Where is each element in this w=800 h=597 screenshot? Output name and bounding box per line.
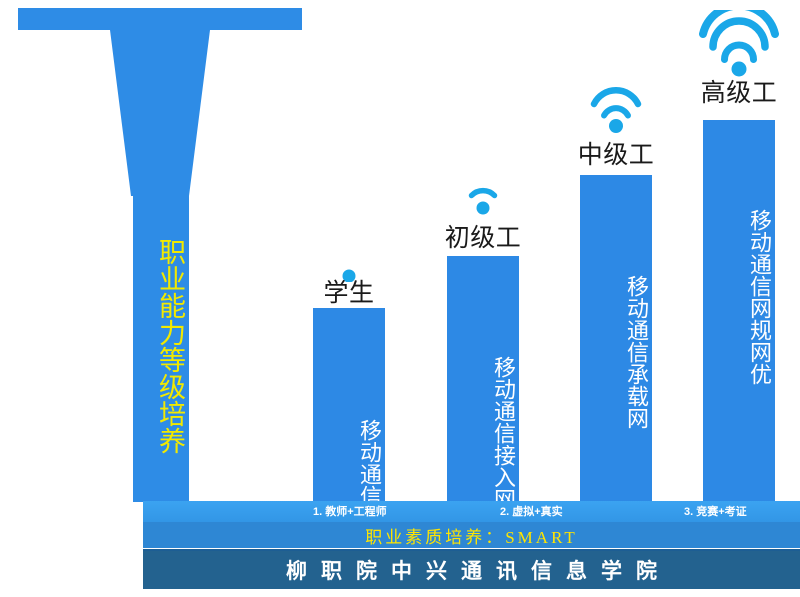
column-title-intermediate: 中级工 [556,135,676,171]
footer-band: 柳职院中兴通讯信息学院 [143,549,800,589]
note-2: 2. 虚拟+真实 [500,503,563,519]
footer-band-label: 柳职院中兴通讯信息学院 [272,555,671,585]
wifi-2-bars-icon [556,84,676,136]
bar-senior: 移动通信网规网优 [703,120,775,502]
bar-label-intermediate: 移动通信承载网 [580,187,652,517]
bar-student: 移动通信基础 [313,308,385,502]
bar-label-senior: 移动通信网规网优 [703,132,775,462]
smart-band: 职业素质培养：SMART [143,522,800,548]
bar-intermediate: 移动通信承载网 [580,175,652,502]
wifi-1-bar-icon [423,182,543,220]
notes-band: 1. 教师+工程师 2. 虚拟+真实 3. 竞赛+考证 [143,501,800,522]
wifi-3-bars-icon [679,10,799,78]
column-title-senior: 高级工 [679,73,799,109]
funnel-label: 职业能力等级培养 [133,196,189,496]
diagram-canvas: 职业能力等级培养 学生 移动通信基础 初级工 移动通信接入网 [0,0,800,597]
smart-band-label: 职业素质培养：SMART [365,523,578,548]
column-title-junior: 初级工 [423,218,543,254]
bar-junior: 移动通信接入网 [447,256,519,502]
note-1: 1. 教师+工程师 [313,503,387,519]
funnel-left-wing [18,8,152,196]
column-title-student: 学生 [289,273,409,309]
note-3: 3. 竞赛+考证 [684,503,747,519]
